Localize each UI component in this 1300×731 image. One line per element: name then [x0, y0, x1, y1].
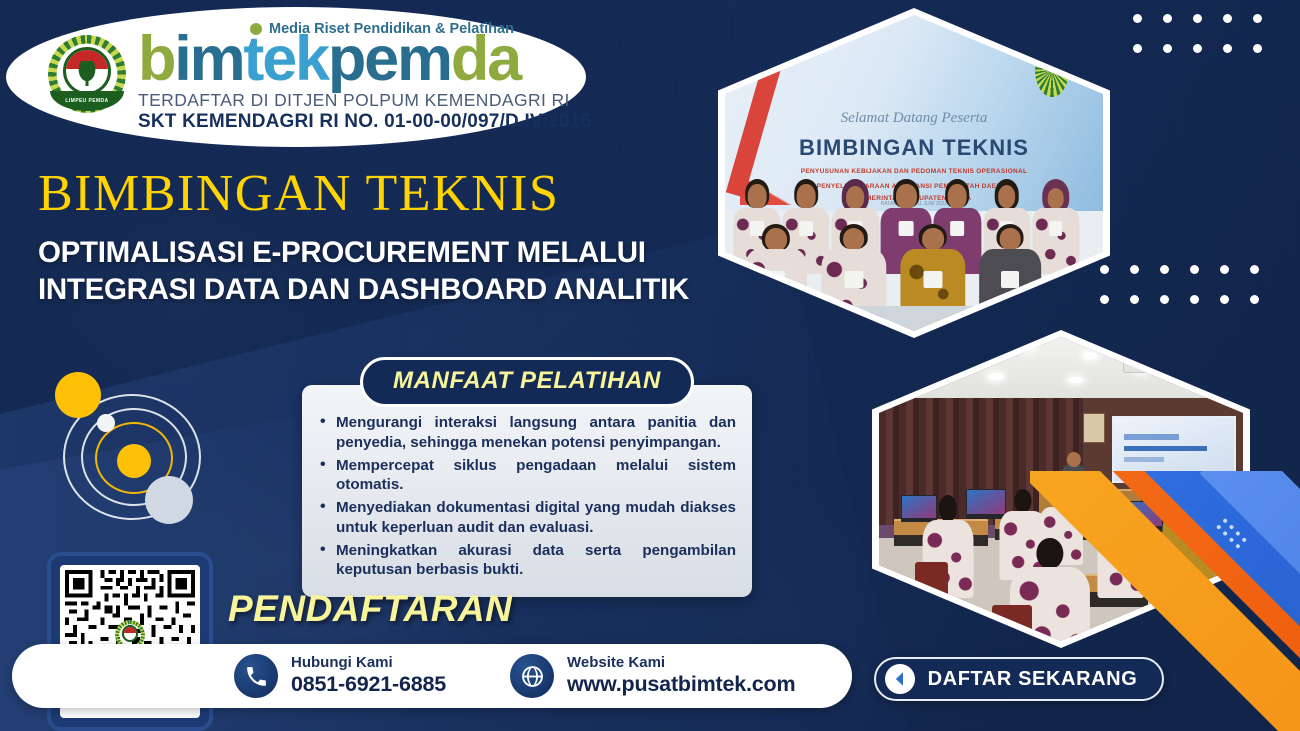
- contact-bar: Hubungi Kami 0851-6921-6885 Website Kami…: [12, 644, 852, 708]
- brand-wordmark: bimtekpemda: [138, 31, 591, 89]
- dot: [1220, 265, 1229, 274]
- chevron-left-icon: [885, 664, 915, 694]
- dot: [1133, 14, 1142, 23]
- dot: [1193, 44, 1202, 53]
- benefits-list: Mengurangi interaksi langsung antara pan…: [318, 413, 736, 580]
- backdrop-title: BIMBINGAN TEKNIS: [799, 135, 1029, 161]
- dot: [1160, 265, 1169, 274]
- dot: [1100, 295, 1109, 304]
- register-now-label: DAFTAR SEKARANG: [915, 668, 1162, 691]
- dot: [1223, 14, 1232, 23]
- backdrop-subtitle-1: PENYUSUNAN KEBIJAKAN DAN PEDOMAN TEKNIS …: [801, 167, 1028, 178]
- contact-phone[interactable]: Hubungi Kami 0851-6921-6885: [234, 654, 446, 698]
- wordmark-da: da: [451, 24, 520, 94]
- person-head: [896, 184, 916, 209]
- sub-headline: OPTIMALISASI E-PROCUREMENT MELALUI INTEG…: [38, 234, 728, 308]
- crest-shield: [63, 47, 111, 95]
- dot: [1160, 295, 1169, 304]
- benefit-item: Mempercepat siklus pengadaan melalui sis…: [318, 456, 736, 496]
- crest-ribbon-text: LIMPEU PEMDA: [50, 91, 125, 111]
- orbit-circle-core-yellow: [117, 444, 151, 478]
- person-head: [1000, 228, 1021, 251]
- wordmark-pem: pem: [328, 24, 451, 94]
- contact-phone-text: Hubungi Kami 0851-6921-6885: [291, 655, 446, 696]
- dot: [1190, 265, 1199, 274]
- main-headline: BIMBINGAN TEKNIS: [38, 168, 559, 220]
- crest-tree-trunk: [86, 72, 89, 86]
- skt-number-line: SKT KEMENDAGRI RI NO. 01-00-00/097/D.IV/…: [138, 111, 591, 133]
- poster-canvas: LIMPEU PEMDA Media Riset Pendidikan & Pe…: [0, 0, 1300, 731]
- benefits-card: MANFAAT PELATIHAN Mengurangi interaksi l…: [302, 385, 752, 597]
- dot: [1163, 14, 1172, 23]
- registration-line: TERDAFTAR DI DITJEN POLPUM KEMENDAGRI RI: [138, 90, 591, 111]
- dot: [1220, 295, 1229, 304]
- brand-text-block: Media Riset Pendidikan & Pelatihan bimte…: [138, 21, 591, 134]
- person-head: [748, 184, 767, 209]
- wordmark-im: im: [174, 24, 243, 94]
- dot: [1130, 295, 1139, 304]
- ceiling-light: [1068, 377, 1083, 383]
- dot: [1253, 44, 1262, 53]
- person-badge: [1001, 271, 1019, 288]
- dot: [1253, 14, 1262, 23]
- benefits-title-badge: MANFAAT PELATIHAN: [360, 357, 694, 407]
- kemendagri-crest-icon: LIMPEU PEMDA: [48, 35, 126, 113]
- phone-icon: [234, 654, 278, 698]
- brand-header-pill: LIMPEU PEMDA Media Riset Pendidikan & Pe…: [6, 7, 586, 147]
- benefits-title-text: MANFAAT PELATIHAN: [393, 367, 661, 394]
- dot: [1130, 265, 1139, 274]
- dot: [1163, 44, 1172, 53]
- website-url: www.pusatbimtek.com: [567, 672, 795, 697]
- qr-crest-shield-top: [124, 627, 137, 633]
- dot: [1100, 265, 1109, 274]
- benefit-item: Mengurangi interaksi langsung antara pan…: [318, 413, 736, 453]
- dot: [1223, 44, 1232, 53]
- orbit-circle-small-white: [97, 414, 115, 432]
- backdrop-welcome-text: Selamat Datang Peserta: [841, 110, 988, 127]
- slide-bar: [1124, 446, 1208, 452]
- dot: [1250, 295, 1259, 304]
- wordmark-b: b: [138, 24, 174, 94]
- contact-website[interactable]: Website Kami www.pusatbimtek.com: [510, 654, 795, 698]
- dot-grid-middle-right: [1100, 265, 1259, 304]
- person-head: [843, 228, 865, 251]
- person-badge: [844, 271, 863, 288]
- registration-heading: PENDAFTARAN: [228, 588, 512, 630]
- ceiling-light: [1083, 352, 1098, 359]
- wordmark-tek: tek: [243, 24, 327, 94]
- slide-bar: [1124, 457, 1165, 462]
- wall-picture-frame: [1083, 413, 1105, 443]
- ceiling-light: [988, 373, 1003, 379]
- orbit-circle-large-yellow: [55, 372, 101, 418]
- benefit-item: Meningkatkan akurasi data serta pengambi…: [318, 541, 736, 581]
- person-head: [998, 185, 1016, 208]
- phone-label: Hubungi Kami: [291, 655, 446, 672]
- slide-bar: [1124, 434, 1179, 440]
- benefit-item: Menyediakan dokumentasi digital yang mud…: [318, 498, 736, 538]
- person-badge: [923, 271, 942, 288]
- participant-head: [939, 495, 957, 522]
- person-head: [1047, 188, 1064, 209]
- atom-orbit-decoration-icon: [55, 372, 215, 530]
- participant-body: [923, 520, 974, 599]
- dot: [1190, 295, 1199, 304]
- benefits-body: Mengurangi interaksi langsung antara pan…: [302, 385, 752, 597]
- person-head: [797, 184, 816, 209]
- person-head: [765, 228, 787, 252]
- register-now-button[interactable]: DAFTAR SEKARANG: [874, 657, 1164, 701]
- crest-ribbon: LIMPEU PEMDA: [50, 91, 125, 111]
- presenter-head: [1067, 452, 1081, 467]
- qr-crest-shield: [122, 625, 139, 642]
- participant-head: [1014, 489, 1031, 513]
- person-head: [922, 228, 944, 251]
- dot: [1133, 44, 1142, 53]
- globe-icon: [510, 654, 554, 698]
- dot: [1250, 265, 1259, 274]
- orbit-circle-gray: [145, 476, 193, 524]
- contact-website-text: Website Kami www.pusatbimtek.com: [567, 655, 795, 696]
- person-head: [847, 186, 865, 209]
- dot: [1193, 14, 1202, 23]
- person-head: [948, 184, 967, 209]
- website-label: Website Kami: [567, 655, 795, 672]
- phone-number: 0851-6921-6885: [291, 672, 446, 697]
- dot-grid-top-right: [1133, 14, 1262, 53]
